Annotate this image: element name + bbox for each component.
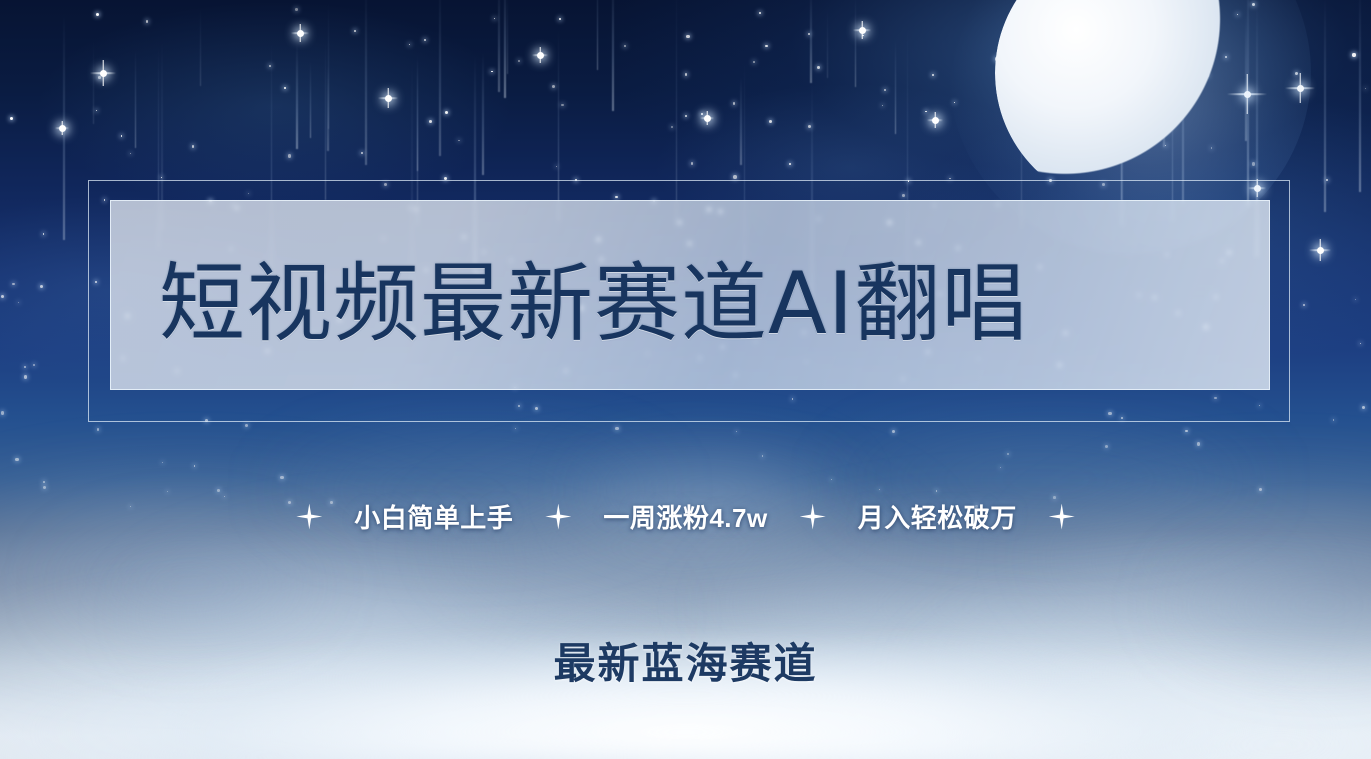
sparkle-star-icon [545,504,571,530]
star-burst-icon [927,112,943,128]
star-dot [429,120,432,123]
meteor-streak [93,38,95,123]
cloud [1020,470,1371,650]
star-burst-icon [532,47,548,63]
meteor-streak [200,6,202,86]
star-dot [1352,53,1355,56]
page-title: 短视频最新赛道AI翻唱 [159,233,1028,358]
star-dot [615,427,619,431]
star-dot [444,177,447,180]
star-dot [515,428,516,429]
feature-item-0: 小白简单上手 [336,498,531,535]
star-dot [269,65,271,67]
feature-item-1: 一周涨粉4.7w [585,498,785,535]
star-dot [295,8,298,11]
star-burst-icon [700,111,714,125]
feature-row: 小白简单上手 一周涨粉4.7w 月入轻松破万 [0,498,1371,535]
star-dot [43,481,45,483]
star-dot [624,45,626,47]
meteor-streak [135,48,137,147]
star-dot [552,85,555,88]
star-dot [691,162,693,164]
meteor-streak [1324,0,1326,212]
star-dot [18,302,19,303]
star-dot [1360,343,1361,344]
star-dot [97,428,100,431]
star-dot [733,102,736,105]
meteor-streak [328,0,330,129]
meteor-streak [498,0,500,92]
star-dot [458,140,459,141]
star-dot [1326,179,1328,181]
star-dot [556,166,557,167]
meteor-streak [417,50,419,225]
star-burst-icon [291,24,309,42]
star-dot [808,33,810,35]
meteor-streak [810,0,812,83]
star-dot [104,199,106,201]
star-dot [701,113,703,115]
star-dot [40,285,43,288]
star-dot [24,366,26,368]
star-dot [575,179,577,181]
star-dot [831,479,832,480]
star-dot [192,145,194,147]
meteor-streak [827,6,829,78]
star-dot [424,39,426,41]
star-dot [43,233,45,235]
star-dot [753,61,755,63]
star-dot [1000,467,1001,468]
star-dot [1365,88,1366,89]
star-dot [932,74,934,76]
star-dot [95,281,97,283]
star-dot [902,194,905,197]
star-dot [10,117,13,120]
feature-item-2: 月入轻松破万 [840,498,1035,535]
star-dot [561,104,564,107]
promo-banner: 短视频最新赛道AI翻唱 小白简单上手 一周涨粉4.7w 月入轻松破万 最新蓝海赛… [0,0,1371,759]
star-dot [280,476,283,479]
star-dot [686,35,689,38]
star-dot [445,111,448,114]
star-dot [1121,417,1123,419]
cloud [420,462,940,632]
star-dot [248,193,249,194]
star-dot [1303,304,1305,306]
star-dot [949,178,951,180]
star-dot [194,465,196,467]
meteor-streak [325,38,327,200]
star-dot [671,126,673,128]
star-dot [733,175,737,179]
star-dot [1362,406,1365,409]
meteor-streak [482,51,484,176]
meteor-streak [504,0,506,98]
star-dot [518,405,520,407]
star-dot [1333,419,1335,421]
star-dot [384,183,388,187]
star-dot [24,375,28,379]
star-dot [161,177,163,179]
star-dot [762,455,764,457]
star-burst-icon [1309,239,1331,261]
meteor-streak [895,39,897,134]
star-dot [936,490,937,491]
star-dot [879,489,880,490]
star-dot [167,491,168,492]
star-dot [736,431,737,432]
sparkle-star-icon [1049,504,1075,530]
star-dot [361,152,363,154]
star-dot [1355,299,1356,300]
star-dot [98,76,101,79]
star-dot [288,154,291,157]
star-dot [96,110,97,111]
star-dot [162,462,164,464]
star-dot [130,153,131,154]
star-dot [245,424,248,427]
star-burst-icon [853,21,871,39]
star-dot [1259,405,1261,407]
star-dot [1,295,4,298]
star-dot [1214,397,1217,400]
star-dot [792,398,794,400]
sparkle-star-icon [296,504,322,530]
title-panel: 短视频最新赛道AI翻唱 [110,200,1270,390]
star-dot [1197,442,1200,445]
meteor-streak [676,0,678,224]
star-dot [1259,488,1262,491]
star-dot [892,430,895,433]
star-dot [789,163,791,165]
star-dot [1105,445,1108,448]
star-dot [33,364,35,366]
meteor-streak [507,0,509,74]
star-dot [205,419,208,422]
crescent-moon-icon [995,0,1265,208]
star-dot [146,20,149,23]
star-dot [409,44,410,45]
star-dot [354,30,356,32]
star-dot [882,105,884,107]
meteor-streak [296,42,298,150]
star-dot [217,489,220,492]
star-dot [535,407,538,410]
meteor-streak [417,59,419,171]
star-dot [1185,430,1188,433]
star-dot [491,71,493,73]
star-burst-icon [378,88,398,108]
meteor-streak [558,27,560,221]
star-dot [15,458,19,462]
star-dot [494,18,495,19]
bottom-headline-wrap: 最新蓝海赛道 [0,630,1371,691]
bottom-headline: 最新蓝海赛道 [553,630,817,691]
star-dot [284,87,286,89]
star-dot [884,89,886,91]
star-dot [12,283,15,286]
meteor-streak [597,0,599,70]
star-dot [559,18,561,20]
star-dot [1108,412,1112,416]
meteor-streak [63,10,65,240]
meteor-streak [327,66,329,151]
star-dot [43,486,46,489]
meteor-streak [612,0,614,111]
star-burst-icon [90,60,116,86]
star-dot [808,125,811,128]
star-dot [1,411,5,415]
star-dot [518,60,520,62]
star-dot [96,13,99,16]
star-dot [1007,453,1009,455]
star-burst-icon [55,121,69,135]
star-dot [759,12,761,14]
star-dot [862,35,864,37]
meteor-streak [439,0,441,156]
star-dot [121,135,122,136]
star-dot [925,111,927,113]
meteor-streak [310,60,312,138]
star-dot [685,115,687,117]
meteor-streak [740,76,742,165]
star-dot [615,196,617,198]
star-dot [817,66,820,69]
star-dot [769,120,772,123]
meteor-streak [1359,0,1361,192]
star-dot [765,45,768,48]
star-dot [685,73,688,76]
star-dot [908,180,910,182]
sparkle-star-icon [800,504,826,530]
meteor-streak [855,0,857,87]
meteor-streak [365,0,367,165]
